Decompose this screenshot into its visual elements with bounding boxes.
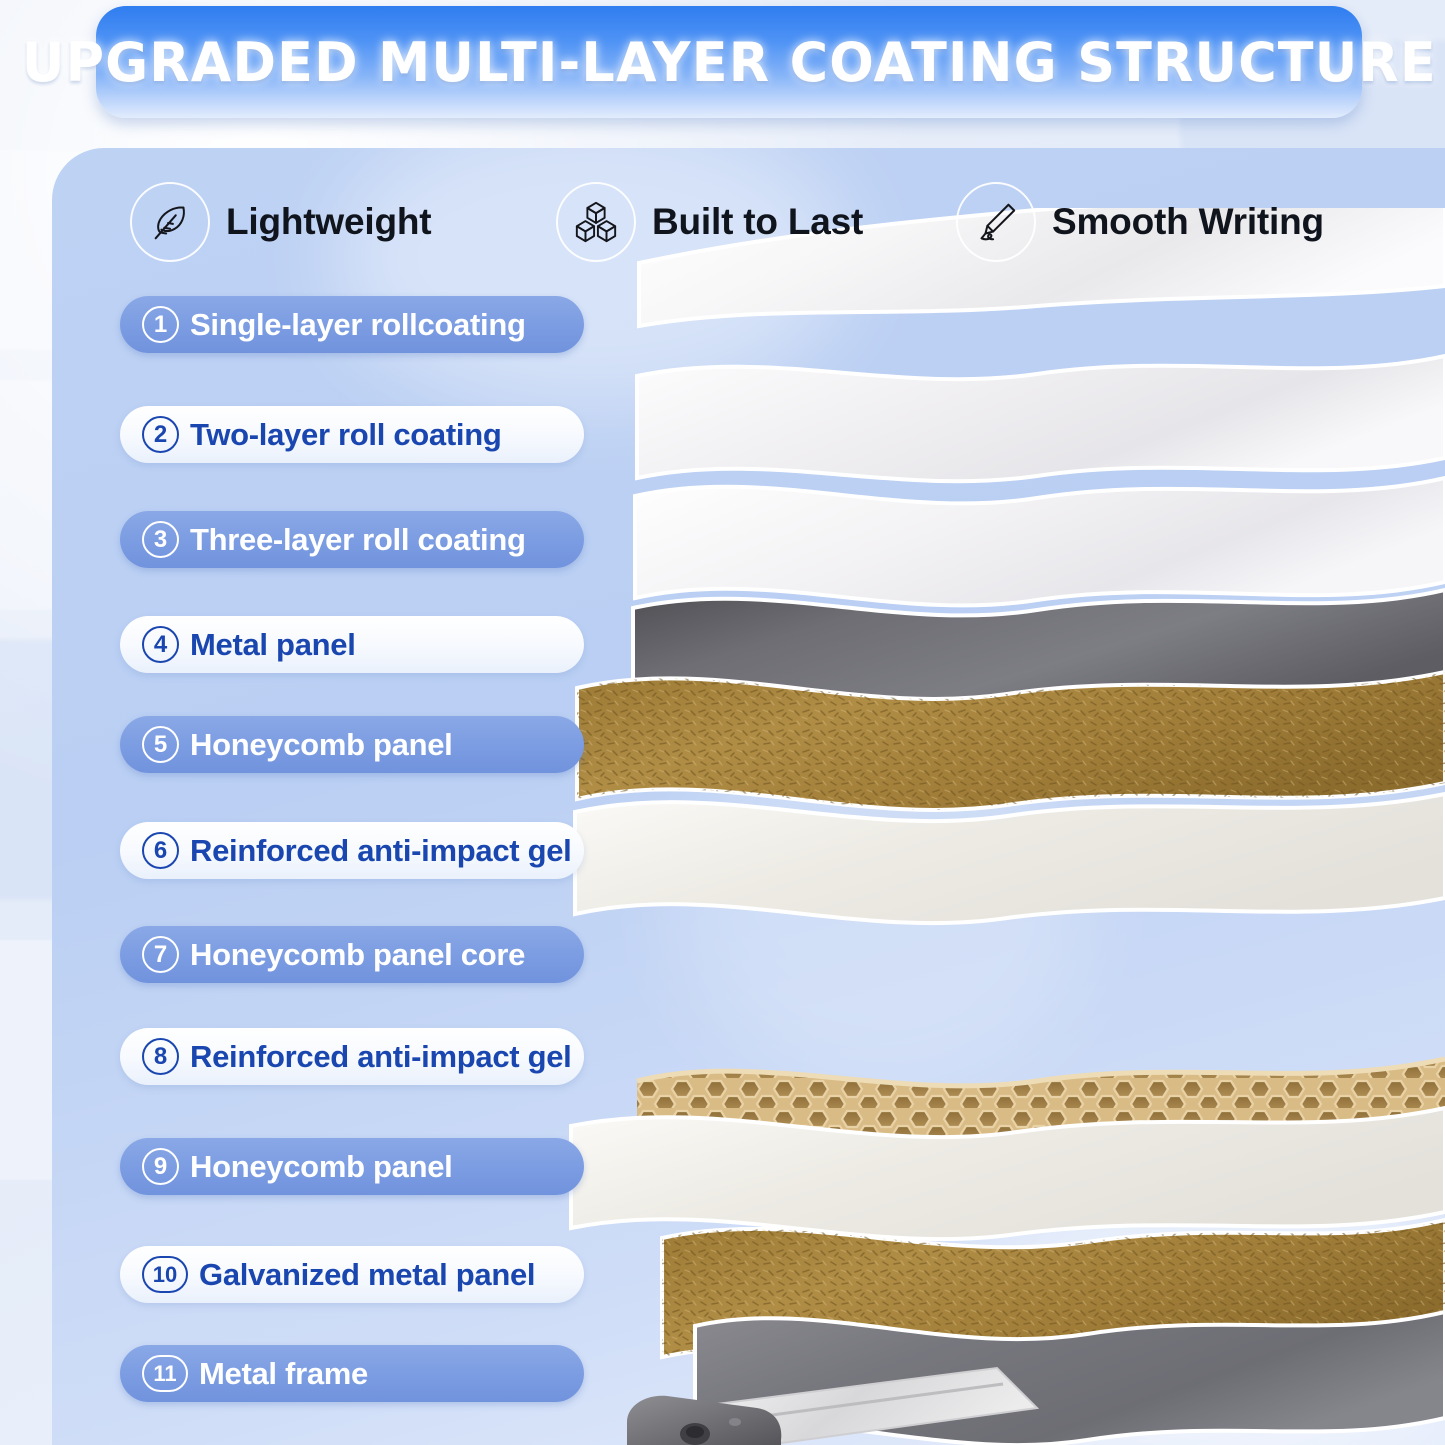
layer-label: Galvanized metal panel	[199, 1257, 535, 1293]
layer-item-6[interactable]: 6 Reinforced anti-impact gel	[120, 822, 584, 879]
layer-item-3[interactable]: 3 Three-layer roll coating	[120, 511, 584, 568]
title-banner: UPGRADED MULTI-LAYER COATING STRUCTURE	[96, 6, 1362, 118]
feature-built-to-last: Built to Last	[556, 182, 863, 262]
layer-number: 6	[142, 832, 179, 869]
two-layer-roll-coating-sheet	[637, 356, 1445, 481]
layer-label: Reinforced anti-impact gel	[190, 833, 572, 869]
layer-label: Honeycomb panel	[190, 1149, 453, 1185]
layer-item-11[interactable]: 11 Metal frame	[120, 1345, 584, 1402]
layer-number: 10	[142, 1256, 188, 1293]
layer-number: 2	[142, 416, 179, 453]
reinforced-anti-impact-gel-sheet-upper	[575, 794, 1445, 923]
feature-label: Built to Last	[652, 201, 863, 243]
layer-item-5[interactable]: 5 Honeycomb panel	[120, 716, 584, 773]
feature-smooth-writing: Smooth Writing	[956, 182, 1324, 262]
page-title: UPGRADED MULTI-LAYER COATING STRUCTURE	[22, 31, 1437, 94]
feature-row: Lightweight Built to	[130, 182, 1410, 274]
layer-number: 1	[142, 306, 179, 343]
layer-label: Three-layer roll coating	[190, 522, 526, 558]
pen-nib-icon	[956, 182, 1036, 262]
layer-item-1[interactable]: 1 Single-layer rollcoating	[120, 296, 584, 353]
layer-number: 3	[142, 521, 179, 558]
content-panel: Lightweight Built to	[52, 148, 1445, 1445]
layer-label: Two-layer roll coating	[190, 417, 501, 453]
feature-lightweight: Lightweight	[130, 182, 431, 262]
layer-label: Reinforced anti-impact gel	[190, 1039, 572, 1075]
layer-label: Honeycomb panel	[190, 727, 453, 763]
layer-item-10[interactable]: 10 Galvanized metal panel	[120, 1246, 584, 1303]
layer-number: 4	[142, 626, 179, 663]
three-layer-roll-coating-sheet	[635, 478, 1445, 605]
layer-label: Single-layer rollcoating	[190, 307, 526, 343]
layer-number: 5	[142, 726, 179, 763]
layer-label: Metal frame	[199, 1356, 368, 1392]
layer-label: Honeycomb panel core	[190, 937, 525, 973]
layer-number: 11	[142, 1355, 188, 1392]
layer-number: 8	[142, 1038, 179, 1075]
layer-number: 7	[142, 936, 179, 973]
layer-item-2[interactable]: 2 Two-layer roll coating	[120, 406, 584, 463]
cubes-icon	[556, 182, 636, 262]
layer-item-9[interactable]: 9 Honeycomb panel	[120, 1138, 584, 1195]
feature-label: Lightweight	[226, 201, 431, 243]
layer-stack-illustration	[567, 208, 1445, 1445]
layer-item-7[interactable]: 7 Honeycomb panel core	[120, 926, 584, 983]
feather-icon	[130, 182, 210, 262]
feature-label: Smooth Writing	[1052, 201, 1324, 243]
layer-label: Metal panel	[190, 627, 356, 663]
infographic-root: UPGRADED MULTI-LAYER COATING STRUCTURE	[0, 0, 1445, 1445]
layer-item-8[interactable]: 8 Reinforced anti-impact gel	[120, 1028, 584, 1085]
layer-number: 9	[142, 1148, 179, 1185]
layer-item-4[interactable]: 4 Metal panel	[120, 616, 584, 673]
